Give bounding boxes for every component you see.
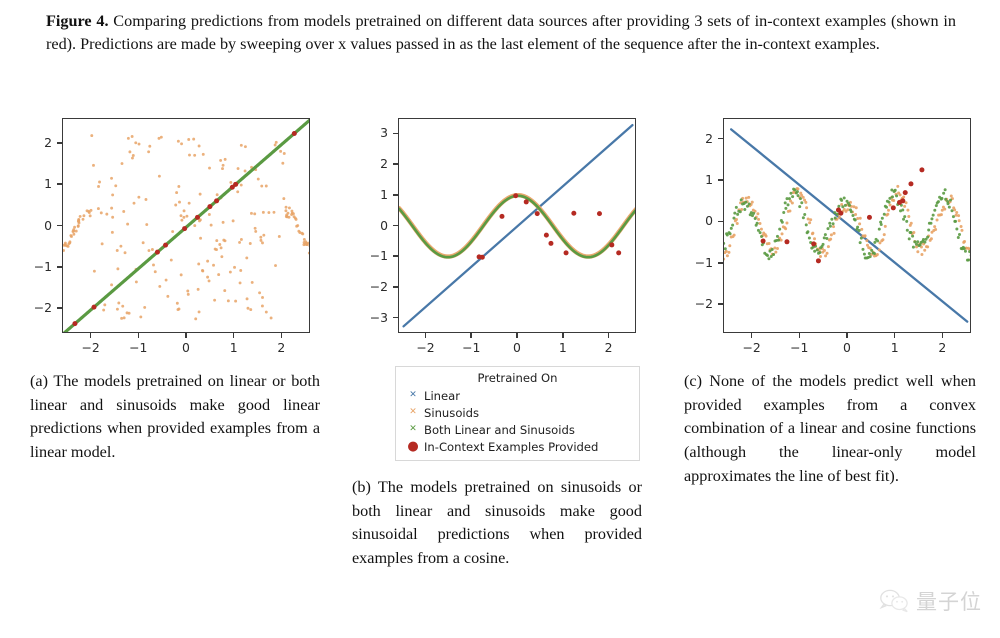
subcaption-a: (a) The models pretrained on linear or b… (30, 370, 320, 465)
y-tick-mark (393, 163, 398, 165)
x-tick-mark (942, 333, 944, 338)
x-tick-label: 1 (548, 340, 578, 355)
y-tick-mark (718, 138, 723, 140)
y-tick-label: 0 (358, 218, 388, 233)
legend-item-in-context[interactable]: ● In-Context Examples Provided (402, 438, 633, 455)
x-marker-icon: ✕ (402, 425, 424, 434)
panel-c-plot-area (723, 118, 971, 333)
y-tick-mark (57, 142, 62, 144)
panel-a-plot-area (62, 118, 310, 333)
x-tick-mark (470, 333, 472, 338)
panel-c-svg (724, 119, 971, 333)
wechat-icon (879, 589, 909, 613)
x-tick-mark (281, 333, 283, 338)
y-tick-label: −1 (22, 259, 52, 274)
x-tick-label: −2 (737, 340, 767, 355)
x-tick-mark (233, 333, 235, 338)
x-tick-label: 0 (502, 340, 532, 355)
y-tick-mark (393, 317, 398, 319)
y-tick-mark (57, 183, 62, 185)
x-tick-label: 0 (171, 340, 201, 355)
watermark-text: 量子位 (916, 586, 982, 616)
legend-item-both[interactable]: ✕ Both Linear and Sinusoids (402, 421, 633, 438)
y-tick-mark (718, 303, 723, 305)
y-tick-label: 1 (22, 176, 52, 191)
figure-caption-text: Comparing predictions from models pretra… (46, 12, 956, 53)
x-tick-mark (90, 333, 92, 338)
x-tick-mark (799, 333, 801, 338)
legend-box: Pretrained On ✕ Linear ✕ Sinusoids ✕ Bot… (395, 366, 640, 461)
y-tick-mark (57, 307, 62, 309)
x-tick-mark (751, 333, 753, 338)
x-tick-mark (562, 333, 564, 338)
y-tick-label: −2 (683, 296, 713, 311)
x-tick-label: −1 (456, 340, 486, 355)
y-tick-label: −2 (22, 300, 52, 315)
x-tick-label: −2 (410, 340, 440, 355)
y-tick-mark (57, 266, 62, 268)
x-tick-label: −2 (76, 340, 106, 355)
legend-label-sinusoids: Sinusoids (424, 406, 479, 420)
y-tick-label: 0 (683, 213, 713, 228)
y-tick-label: 2 (683, 131, 713, 146)
y-tick-label: 2 (22, 135, 52, 150)
x-tick-mark (185, 333, 187, 338)
subcaption-c: (c) None of the models predict well when… (684, 370, 976, 488)
legend-title: Pretrained On (402, 371, 633, 385)
y-tick-label: −1 (358, 248, 388, 263)
x-tick-label: 1 (219, 340, 249, 355)
y-tick-label: −2 (358, 279, 388, 294)
panel-b-plot-area (398, 118, 636, 333)
panel-a-svg (63, 119, 310, 333)
y-tick-label: 0 (22, 218, 52, 233)
x-tick-label: 2 (594, 340, 624, 355)
y-tick-label: 3 (358, 125, 388, 140)
dot-marker-icon: ● (402, 440, 424, 453)
y-tick-mark (718, 221, 723, 223)
y-tick-mark (393, 225, 398, 227)
x-tick-mark (608, 333, 610, 338)
figure-4-container: Figure 4. Comparing predictions from mod… (0, 0, 1000, 638)
figure-label: Figure 4. (46, 12, 109, 30)
x-tick-label: 0 (832, 340, 862, 355)
legend-item-linear[interactable]: ✕ Linear (402, 387, 633, 404)
figure-caption: Figure 4. Comparing predictions from mod… (46, 10, 956, 56)
y-tick-mark (718, 262, 723, 264)
y-tick-mark (393, 194, 398, 196)
y-tick-label: 1 (683, 172, 713, 187)
y-tick-mark (718, 179, 723, 181)
y-tick-mark (393, 286, 398, 288)
legend-item-sinusoids[interactable]: ✕ Sinusoids (402, 404, 633, 421)
legend-label-in-context: In-Context Examples Provided (424, 440, 598, 454)
y-tick-mark (393, 133, 398, 135)
x-tick-mark (138, 333, 140, 338)
x-tick-label: −1 (784, 340, 814, 355)
y-tick-label: 1 (358, 187, 388, 202)
panel-b-svg (399, 119, 636, 333)
y-tick-mark (57, 225, 62, 227)
watermark: 量子位 (879, 586, 982, 616)
y-tick-label: 2 (358, 156, 388, 171)
x-tick-label: 2 (927, 340, 957, 355)
y-tick-mark (393, 255, 398, 257)
x-tick-label: 1 (880, 340, 910, 355)
subcaption-b: (b) The models pretrained on sinusoids o… (352, 476, 642, 571)
y-tick-label: −3 (358, 310, 388, 325)
x-marker-icon: ✕ (402, 391, 424, 400)
x-tick-mark (894, 333, 896, 338)
x-marker-icon: ✕ (402, 408, 424, 417)
x-tick-mark (516, 333, 518, 338)
legend-label-linear: Linear (424, 389, 460, 403)
legend-label-both: Both Linear and Sinusoids (424, 423, 575, 437)
x-tick-label: 2 (266, 340, 296, 355)
x-tick-label: −1 (123, 340, 153, 355)
x-tick-mark (846, 333, 848, 338)
y-tick-label: −1 (683, 255, 713, 270)
x-tick-mark (425, 333, 427, 338)
